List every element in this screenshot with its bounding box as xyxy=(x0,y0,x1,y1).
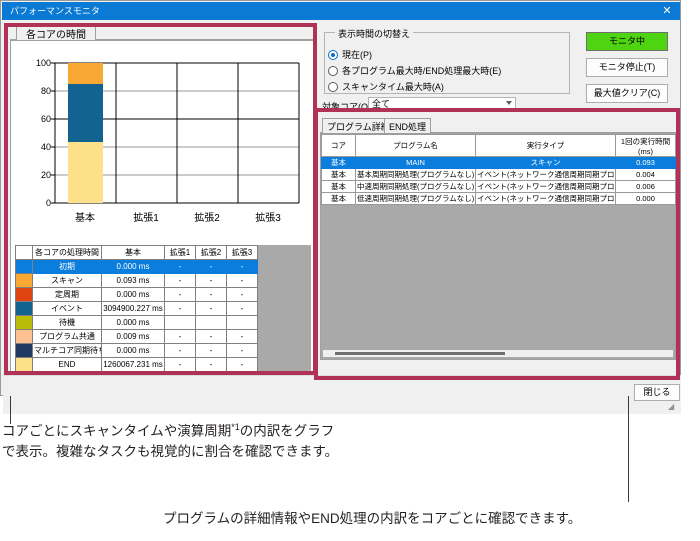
radio-option-current[interactable]: 現在(P) xyxy=(328,48,372,61)
radio-icon-current[interactable] xyxy=(328,50,338,60)
close-button[interactable]: 閉じる xyxy=(634,384,680,401)
window-titlebar: パフォーマンスモニタ ✕ xyxy=(2,2,680,20)
radio-icon-program-max[interactable] xyxy=(328,66,338,76)
window-title: パフォーマンスモニタ xyxy=(10,6,100,16)
annotation-left: コアごとにスキャンタイムや演算周期*1の内訳をグラフ で表示。複雑なタスクも視覚… xyxy=(2,421,442,463)
annotation-left-part1: コアごとにスキャンタイムや演算周期 xyxy=(2,424,231,439)
radio-label-current: 現在(P) xyxy=(342,48,372,61)
screenshot-root: パフォーマンスモニタ ✕ 各コアの時間 xyxy=(0,0,700,541)
callout-frame-right xyxy=(314,108,680,380)
annotation-left-line2: で表示。複雑なタスクも視覚的に割合を確認できます。 xyxy=(2,444,338,459)
display-time-legend: 表示時間の切替え xyxy=(335,27,413,40)
close-icon[interactable]: ✕ xyxy=(654,2,680,20)
clear-max-button[interactable]: 最大値クリア(C) xyxy=(586,84,668,103)
resize-grip-icon[interactable]: ◢ xyxy=(668,402,678,412)
annotation-right: プログラムの詳細情報やEND処理の内訳をコアごとに確認できます。 xyxy=(163,509,700,530)
radio-option-program-max[interactable]: 各プログラム最大時/END処理最大時(E) xyxy=(328,64,501,77)
radio-option-scantime-max[interactable]: スキャンタイム最大時(A) xyxy=(328,80,444,93)
leader-line-left-vertical xyxy=(10,396,11,424)
radio-label-scantime-max: スキャンタイム最大時(A) xyxy=(342,80,444,93)
annotation-right-line: プログラムの詳細情報やEND処理の内訳をコアごとに確認できます。 xyxy=(163,511,581,526)
dialog-footer: ◢ xyxy=(3,375,681,414)
callout-frame-left xyxy=(4,23,317,375)
radio-icon-scantime-max[interactable] xyxy=(328,82,338,92)
radio-label-program-max: 各プログラム最大時/END処理最大時(E) xyxy=(342,64,501,77)
monitor-stop-button[interactable]: モニタ停止(T) xyxy=(586,58,668,77)
annotation-left-part2: の内訳をグラフ xyxy=(240,424,335,439)
leader-line-right-vertical xyxy=(628,396,629,502)
annotation-left-footnote-marker: *1 xyxy=(231,422,240,432)
monitor-status-button[interactable]: モニタ中 xyxy=(586,32,668,51)
chevron-down-icon[interactable] xyxy=(506,101,512,105)
